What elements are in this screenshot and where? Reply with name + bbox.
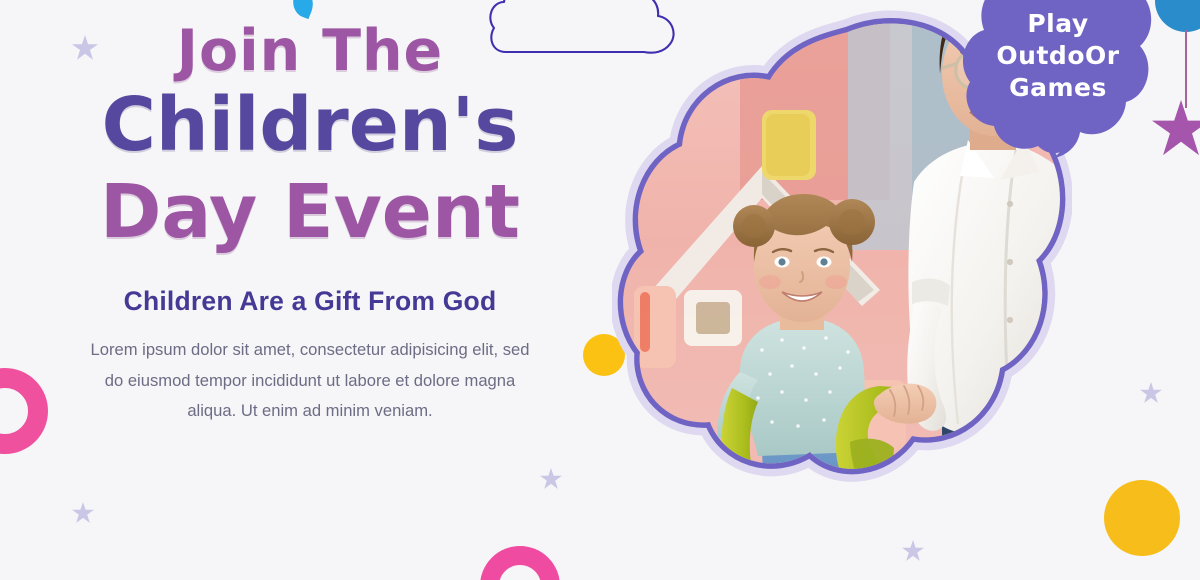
star-right-mid-icon (1140, 382, 1162, 404)
subheadline: Children Are a Gift From God (60, 286, 560, 317)
headline-line-3: Day Event (60, 169, 560, 256)
badge-line-3: Games (962, 72, 1154, 104)
circle-yellow-bottom-icon (1104, 480, 1180, 556)
circle-blue-top-icon (1155, 0, 1200, 32)
ornament-string (1185, 30, 1187, 108)
body-paragraph: Lorem ipsum dolor sit amet, consectetur … (60, 335, 560, 426)
childrens-day-event-banner: Join The Children's Day Event Children A… (0, 0, 1200, 580)
badge-label: Play OutdoOr Games (962, 8, 1154, 104)
play-outdoor-games-badge[interactable]: Play OutdoOr Games (962, 0, 1154, 158)
badge-line-1: Play (962, 8, 1154, 40)
headline-line-2: Children's (60, 82, 560, 169)
headline-line-1: Join The (60, 22, 560, 82)
star-hanging-purple-icon (1152, 100, 1200, 158)
headline-block: Join The Children's Day Event Children A… (0, 0, 620, 580)
badge-line-2: OutdoOr (962, 40, 1154, 72)
